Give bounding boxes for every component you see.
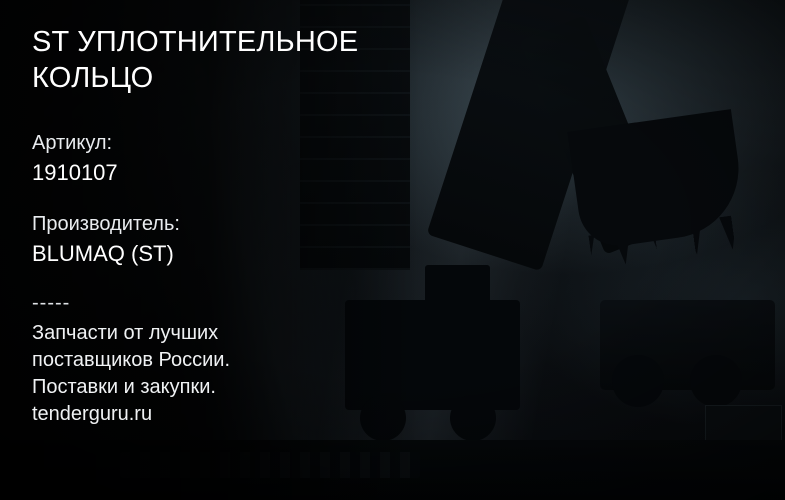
field-article-label: Артикул: [32,130,462,156]
product-title: ST УПЛОТНИТЕЛЬНОЕ КОЛЬЦО [32,24,462,96]
promo-site-url: tenderguru.ru [32,401,462,428]
field-article: Артикул: 1910107 [32,130,462,187]
product-banner-card: ST УПЛОТНИТЕЛЬНОЕ КОЛЬЦО Артикул: 191010… [0,0,785,500]
promo-block: Запчасти от лучших поставщиков России. П… [32,320,462,428]
field-manufacturer: Производитель: BLUMAQ (ST) [32,211,462,268]
promo-line-1: Запчасти от лучших [32,320,462,347]
promo-line-2: поставщиков России. [32,347,462,374]
field-manufacturer-label: Производитель: [32,211,462,237]
promo-line-3: Поставки и закупки. [32,374,462,401]
field-article-value: 1910107 [32,159,462,187]
card-content: ST УПЛОТНИТЕЛЬНОЕ КОЛЬЦО Артикул: 191010… [32,24,462,428]
field-manufacturer-value: BLUMAQ (ST) [32,240,462,268]
text-divider: ----- [32,292,462,314]
